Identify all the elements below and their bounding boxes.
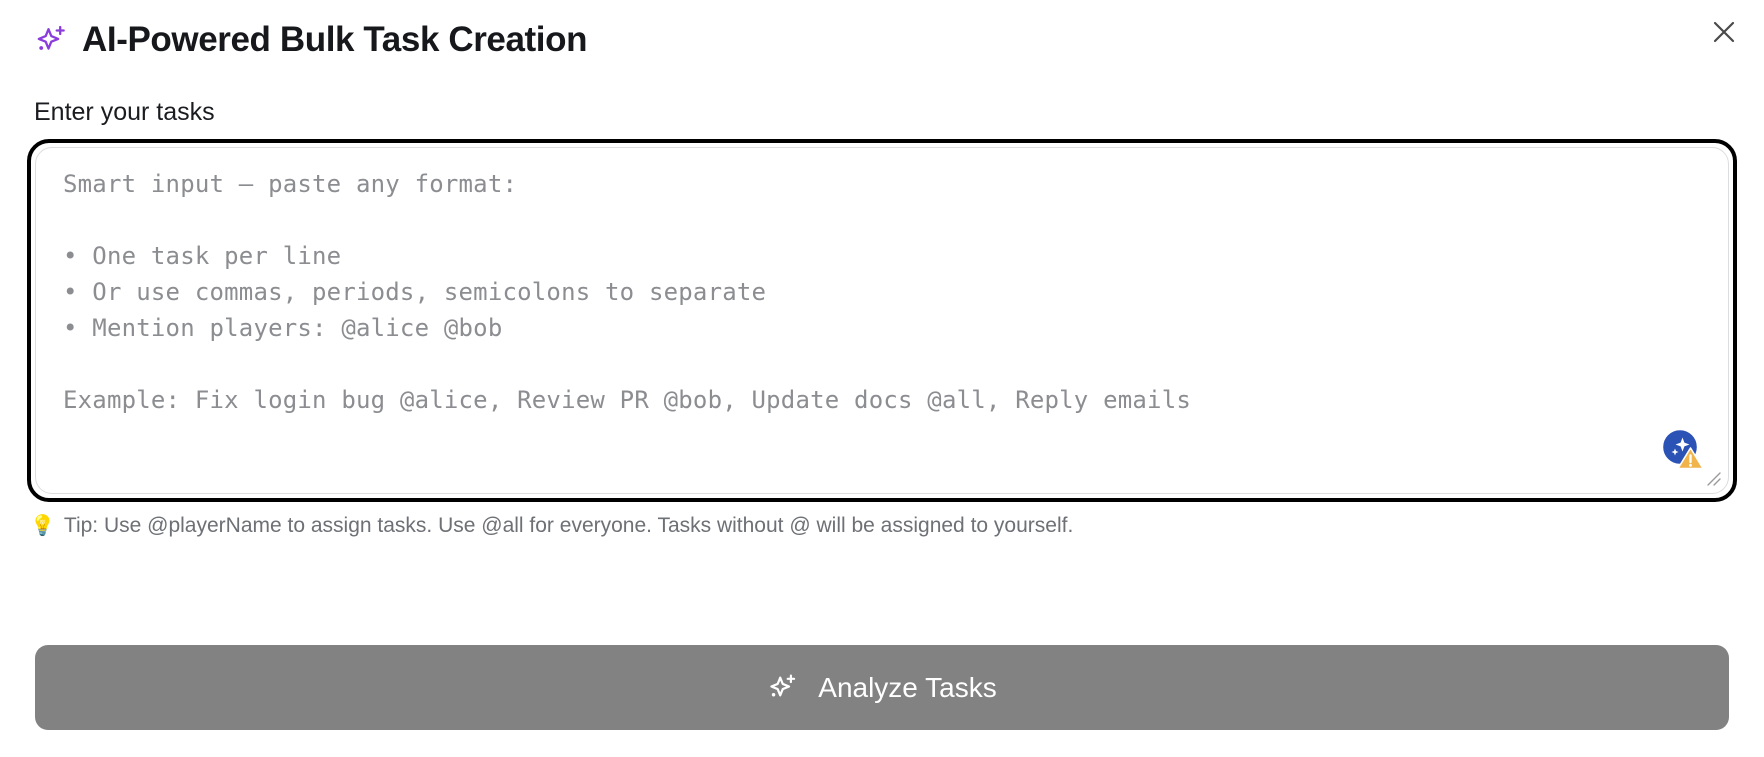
sparkles-icon — [767, 672, 798, 703]
page-title: AI-Powered Bulk Task Creation — [82, 22, 587, 57]
tasks-textarea-wrapper[interactable]: Smart input — paste any format: • One ta… — [27, 139, 1737, 502]
lightbulb-icon: 💡 — [30, 516, 55, 536]
ai-sparkle-warning-badge-icon[interactable] — [1659, 426, 1705, 472]
analyze-tasks-button[interactable]: Analyze Tasks — [35, 645, 1729, 730]
bulk-task-creation-modal: AI-Powered Bulk Task Creation Enter your… — [0, 0, 1764, 757]
tasks-textarea-focus-ring: Smart input — paste any format: • One ta… — [27, 139, 1737, 502]
close-icon[interactable] — [1706, 14, 1742, 50]
tip-text: Tip: Use @playerName to assign tasks. Us… — [64, 512, 1073, 539]
tasks-textarea[interactable]: Smart input — paste any format: • One ta… — [35, 147, 1729, 494]
modal-header: AI-Powered Bulk Task Creation — [34, 22, 587, 57]
tasks-textarea-placeholder: Smart input — paste any format: • One ta… — [63, 166, 1708, 418]
analyze-tasks-label: Analyze Tasks — [818, 674, 996, 702]
sparkles-icon — [34, 23, 68, 57]
resize-grip-icon[interactable] — [1700, 465, 1722, 487]
tasks-field-label: Enter your tasks — [34, 97, 215, 127]
tip-row: 💡 Tip: Use @playerName to assign tasks. … — [30, 512, 1073, 539]
